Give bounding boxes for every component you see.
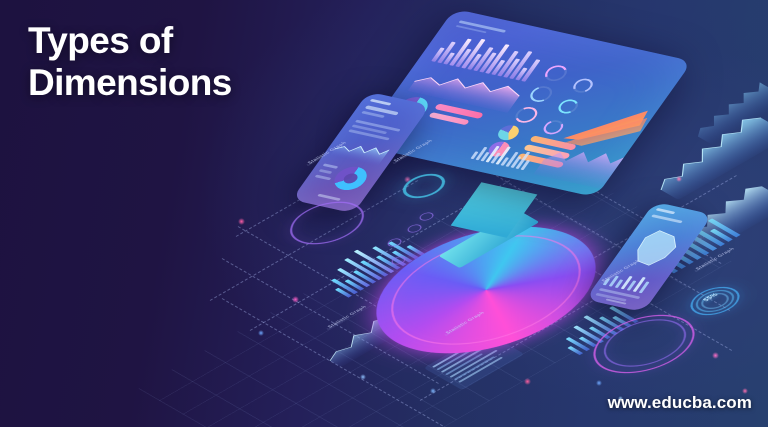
glow-spark	[712, 352, 719, 359]
phone-home-indicator	[318, 194, 341, 201]
dashboard-gauge	[540, 119, 567, 136]
phone-legend-row	[315, 175, 331, 180]
phone-legend-row	[323, 163, 338, 168]
glow-spark	[596, 380, 602, 386]
dashboard-gauge	[555, 98, 582, 115]
desktop-monitor[interactable]	[406, 18, 644, 188]
banner-root: 55% Statistic Graph Data Analysis Statis…	[0, 0, 768, 427]
site-watermark: www.educba.com	[608, 393, 752, 413]
phone-heading	[651, 214, 683, 223]
phone-sparkline	[330, 136, 392, 166]
phone-status-bar	[370, 99, 391, 105]
glow-spark	[238, 218, 245, 225]
glow-spark	[524, 378, 531, 385]
page-title: Types of Dimensions	[28, 20, 232, 104]
phone-status-bar	[656, 208, 675, 214]
glow-spark	[676, 176, 682, 182]
glow-spark	[430, 388, 436, 394]
dashboard-gauge	[570, 77, 597, 94]
glow-spark	[258, 330, 264, 336]
glow-spark	[292, 296, 299, 303]
phone-legend-row	[319, 169, 332, 174]
dashboard-gauge	[541, 64, 571, 83]
dashboard-gauge	[511, 105, 541, 124]
glow-spark	[360, 374, 366, 380]
phone-donut-chart	[329, 164, 373, 193]
dashboard-gauge	[526, 84, 556, 103]
dashboard-donut-small	[494, 124, 522, 142]
